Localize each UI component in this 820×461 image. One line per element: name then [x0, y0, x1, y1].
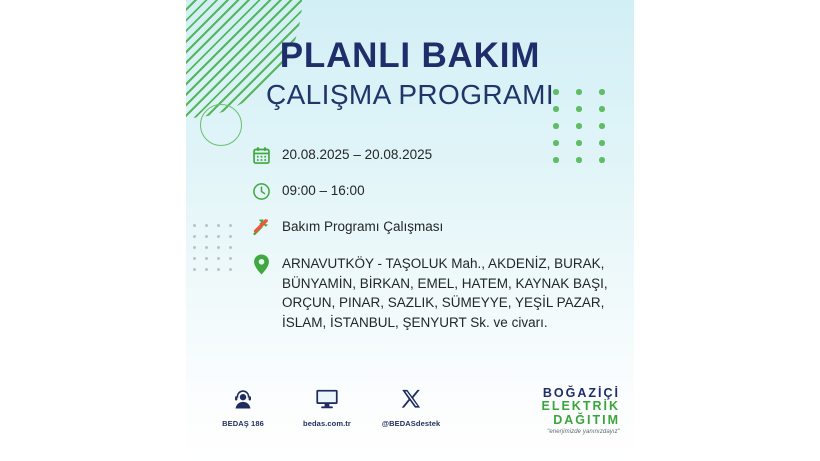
logo-line-elektrik: ELEKTRİK	[542, 400, 621, 413]
info-row-date: 20.08.2025 – 20.08.2025	[248, 143, 608, 167]
location-pin-icon	[248, 251, 274, 276]
contact-phone-label: BEDAŞ 186	[212, 419, 274, 428]
clock-icon	[248, 179, 274, 203]
contact-website-label: bedas.com.tr	[296, 419, 358, 428]
tools-icon	[248, 215, 274, 239]
info-row-worktype-text: Bakım Programı Çalışması	[282, 215, 443, 235]
info-row-address-text: ARNAVUTKÖY - TAŞOLUK Mah., AKDENİZ, BURA…	[282, 251, 608, 332]
contact-website[interactable]: bedas.com.tr	[296, 385, 358, 428]
info-list: 20.08.2025 – 20.08.2025 09:00 – 16:00	[248, 143, 608, 332]
x-logo-icon	[380, 385, 442, 413]
support-agent-icon	[212, 385, 274, 413]
address-line: İSLAM, İSTANBUL, ŞENYURT Sk. ve civarı.	[282, 313, 608, 333]
poster-root: PLANLI BAKIM ÇALIŞMA PROGRAMI	[0, 0, 820, 461]
contact-phone[interactable]: BEDAŞ 186	[212, 385, 274, 428]
footer: BEDAŞ 186 bedas.com.tr	[186, 383, 634, 443]
address-line: ARNAVUTKÖY - TAŞOLUK Mah., AKDENİZ, BURA…	[282, 254, 608, 274]
contact-channels: BEDAŞ 186 bedas.com.tr	[212, 385, 442, 428]
info-row-address: ARNAVUTKÖY - TAŞOLUK Mah., AKDENİZ, BURA…	[248, 251, 608, 332]
page-title: PLANLI BAKIM	[186, 38, 634, 73]
monitor-icon	[296, 385, 358, 413]
calendar-icon	[248, 143, 274, 167]
page-subtitle: ÇALIŞMA PROGRAMI	[186, 77, 634, 112]
info-row-time: 09:00 – 16:00	[248, 179, 608, 203]
contact-x-label: @BEDASdestek	[380, 419, 442, 428]
info-row-worktype: Bakım Programı Çalışması	[248, 215, 608, 239]
address-line: BÜNYAMİN, BİRKAN, EMEL, HATEM, KAYNAK BA…	[282, 274, 608, 294]
info-row-time-text: 09:00 – 16:00	[282, 179, 365, 199]
address-line: ORÇUN, PINAR, SAZLIK, SÜMEYYE, YEŞİL PAZ…	[282, 293, 608, 313]
logo-line-dagitim: DAĞITIM	[542, 414, 621, 427]
announcement-card: PLANLI BAKIM ÇALIŞMA PROGRAMI	[186, 0, 634, 461]
contact-x[interactable]: @BEDASdestek	[380, 385, 442, 428]
bedas-logo: BOĞAZİÇİ ELEKTRİK DAĞITIM "enerjimizde y…	[542, 387, 621, 435]
title-block: PLANLI BAKIM ÇALIŞMA PROGRAMI	[186, 38, 634, 112]
logo-tagline: "enerjimizde yanınızdayız"	[542, 429, 621, 435]
dot-grid-left	[193, 224, 241, 279]
info-row-date-text: 20.08.2025 – 20.08.2025	[282, 143, 432, 163]
